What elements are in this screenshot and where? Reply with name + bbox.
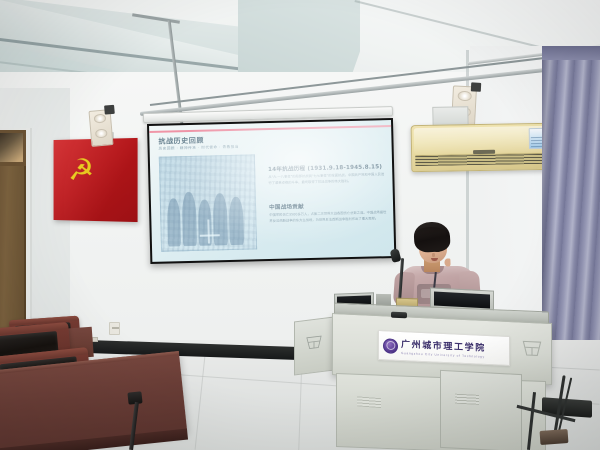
speaker-mount bbox=[104, 105, 115, 115]
speaker-grill-icon bbox=[95, 128, 108, 138]
power-plug-cluster bbox=[540, 429, 569, 445]
microphone-base bbox=[391, 312, 407, 319]
presenter-hair-fringe bbox=[416, 227, 446, 240]
cabinet-vent bbox=[455, 394, 479, 405]
slide-subtitle: 历史回顾 · 精神传承 · 时代使命 · 青春担当 bbox=[159, 145, 239, 152]
slide-section2-heading: 中国战场贡献 bbox=[269, 200, 393, 211]
ac-body bbox=[411, 123, 552, 172]
podium-cup-emblem bbox=[520, 336, 544, 360]
presenter-ear bbox=[444, 258, 450, 266]
speaker-mount bbox=[471, 82, 481, 92]
wall-speaker-left bbox=[88, 109, 113, 147]
curtain-header bbox=[542, 46, 600, 60]
equipment-cabinet bbox=[440, 370, 522, 450]
ac-air-vent bbox=[415, 153, 545, 166]
wall-power-outlet[interactable] bbox=[109, 322, 120, 335]
classroom-scene: ☭ 抗战历史回顾 历史回顾 · 精神传承 · 时代使命 · 青春担当 bbox=[0, 0, 600, 450]
communist-party-flag: ☭ bbox=[54, 138, 138, 222]
door-transom-window bbox=[0, 130, 26, 166]
university-nameplate: 广州城市理工学院 Guangzhou City University of Te… bbox=[378, 330, 510, 366]
podium-vent bbox=[357, 396, 381, 408]
slide-historical-photo bbox=[159, 154, 257, 251]
wall-outlet-small[interactable] bbox=[92, 337, 98, 342]
slide-accent-bar bbox=[149, 125, 391, 133]
speaker-grill-icon bbox=[94, 114, 107, 124]
air-conditioner bbox=[411, 123, 552, 172]
projection-screen: 抗战历史回顾 历史回顾 · 精神传承 · 时代使命 · 青春担当 14年抗战历程… bbox=[147, 118, 396, 264]
presentation-slide: 抗战历史回顾 历史回顾 · 精神传承 · 时代使命 · 青春担当 14年抗战历程… bbox=[149, 120, 394, 262]
ac-ceiling-bracket bbox=[432, 106, 468, 126]
university-crest-icon bbox=[383, 338, 398, 354]
speaker-grill-icon bbox=[457, 90, 471, 101]
slide-section1-heading: 14年抗战历程 (1931.9.18-1945.8.15) bbox=[268, 162, 392, 173]
presenter-mouth bbox=[431, 258, 438, 261]
classroom-door[interactable] bbox=[0, 166, 26, 338]
conference-table-front bbox=[0, 351, 187, 450]
podium-cup-emblem-left bbox=[304, 332, 324, 353]
slide-section2-body: 中国军民伤亡3500多万人，占第二次世界大战各国伤亡总数之首。中国战场是世界反法… bbox=[269, 210, 387, 224]
presenter-nose bbox=[432, 253, 435, 257]
flag-shading bbox=[54, 138, 138, 222]
slide-section1-body: 从"九·一八事变"的局部抗战到"七七事变"的全面抗战，中国共产党和中国人民进行了… bbox=[268, 172, 386, 186]
